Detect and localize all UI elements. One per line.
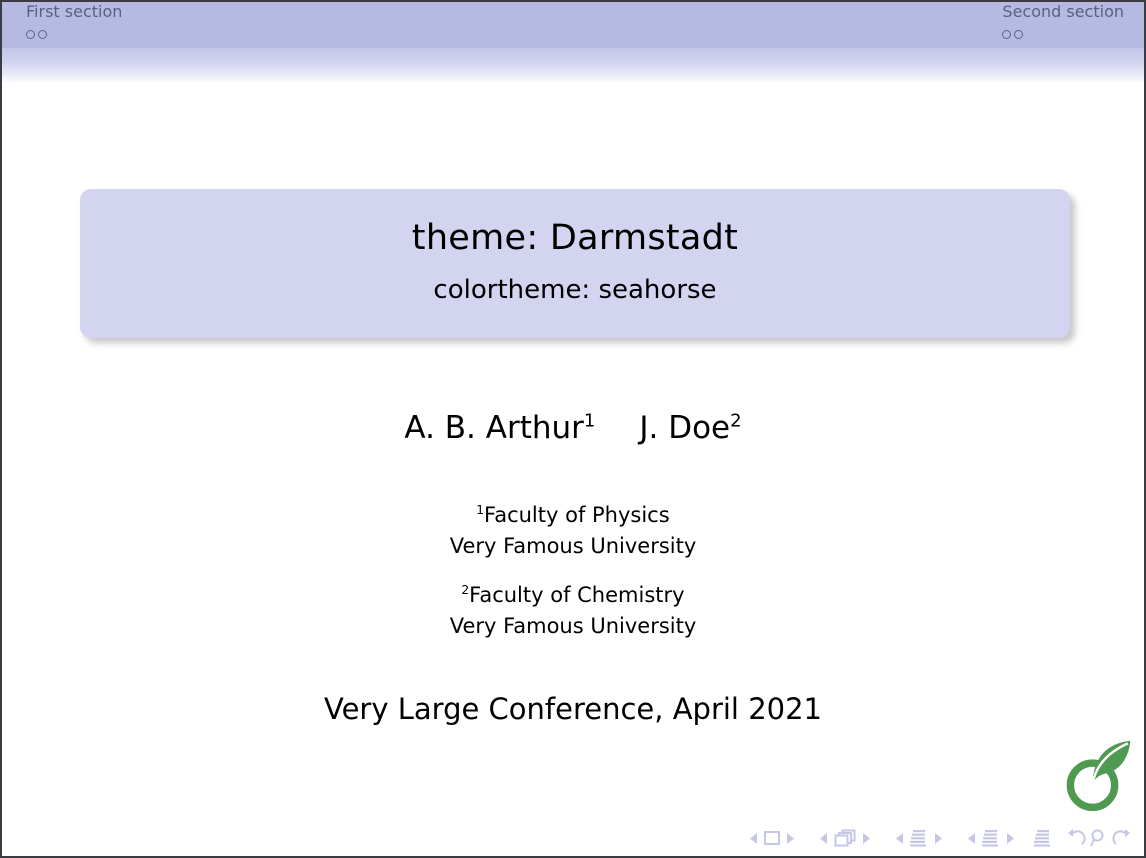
navgroup-slide[interactable]: [744, 831, 800, 845]
nav-subsection-dot[interactable]: [38, 30, 47, 39]
find-button-icon[interactable]: [1090, 829, 1108, 847]
institute-entry: 1Faculty of Physics Very Famous Universi…: [2, 500, 1144, 561]
section-current-icon[interactable]: [982, 830, 1000, 847]
nav-section-first-label: First section: [26, 4, 122, 24]
author-affiliation-mark: 1: [584, 411, 595, 432]
back-button-icon[interactable]: [1066, 829, 1086, 847]
author-entry: J. Doe2: [639, 410, 741, 446]
slide-current-icon[interactable]: [764, 831, 780, 845]
nav-subsection-dot[interactable]: [26, 30, 35, 39]
navgroup-frame[interactable]: [814, 829, 876, 847]
subsection-current-icon[interactable]: [910, 830, 928, 847]
author-name: J. Doe: [639, 410, 730, 446]
institute-university: Very Famous University: [2, 531, 1144, 562]
nav-section-first[interactable]: First section: [26, 4, 122, 42]
frame-prev-icon[interactable]: [820, 833, 828, 844]
institute-department-line: 2Faculty of Chemistry: [2, 580, 1144, 611]
navgroup-section[interactable]: [962, 830, 1020, 847]
frame-next-icon[interactable]: [862, 833, 870, 844]
institute-department: Faculty of Physics: [484, 503, 670, 527]
nav-subsection-dot[interactable]: [1002, 30, 1011, 39]
author-affiliation-mark: 2: [730, 411, 741, 432]
institute-university: Very Famous University: [2, 611, 1144, 642]
navgroup-actions[interactable]: [1066, 829, 1132, 847]
slide-next-icon[interactable]: [786, 833, 794, 844]
beamer-navigation-symbols[interactable]: [744, 826, 1132, 850]
institute-mark: 1: [476, 503, 484, 517]
frame-current-icon[interactable]: [834, 829, 856, 847]
institute-department: Faculty of Chemistry: [469, 583, 684, 607]
nav-section-second-label: Second section: [1002, 4, 1124, 24]
section-next-icon[interactable]: [1006, 833, 1014, 844]
subsection-next-icon[interactable]: [934, 833, 942, 844]
title-block-wrapper: theme: Darmstadt colortheme: seahorse: [80, 189, 1070, 338]
subsection-prev-icon[interactable]: [896, 833, 904, 844]
presentation-title: theme: Darmstadt: [100, 219, 1050, 258]
nav-section-first-dots: [26, 26, 122, 42]
slide-prev-icon[interactable]: [750, 833, 758, 844]
presentation-subtitle: colortheme: seahorse: [100, 276, 1050, 305]
overleaf-logo: [1052, 736, 1138, 818]
forward-button-icon[interactable]: [1112, 829, 1132, 847]
presentation-current-icon[interactable]: [1034, 830, 1052, 847]
author-name: A. B. Arthur: [404, 410, 584, 446]
beamer-slide: First section Second section theme: Darm…: [0, 0, 1146, 858]
institute-mark: 2: [461, 583, 469, 597]
nav-section-second[interactable]: Second section: [1002, 4, 1124, 42]
title-block: theme: Darmstadt colortheme: seahorse: [80, 189, 1070, 338]
presentation-date: Very Large Conference, April 2021: [2, 692, 1144, 726]
author-list: A. B. Arthur1J. Doe2: [2, 410, 1144, 446]
institute-entry: 2Faculty of Chemistry Very Famous Univer…: [2, 580, 1144, 641]
nav-section-second-dots: [1002, 26, 1124, 42]
nav-subsection-dot[interactable]: [1014, 30, 1023, 39]
section-prev-icon[interactable]: [968, 833, 976, 844]
author-entry: A. B. Arthur1: [404, 410, 595, 446]
institute-department-line: 1Faculty of Physics: [2, 500, 1144, 531]
navgroup-presentation[interactable]: [1034, 830, 1052, 847]
navgroup-subsection[interactable]: [890, 830, 948, 847]
navigation-headline-fade: [2, 48, 1144, 84]
institute-list: 1Faculty of Physics Very Famous Universi…: [2, 500, 1144, 642]
navigation-headline-bar: [2, 2, 1144, 48]
